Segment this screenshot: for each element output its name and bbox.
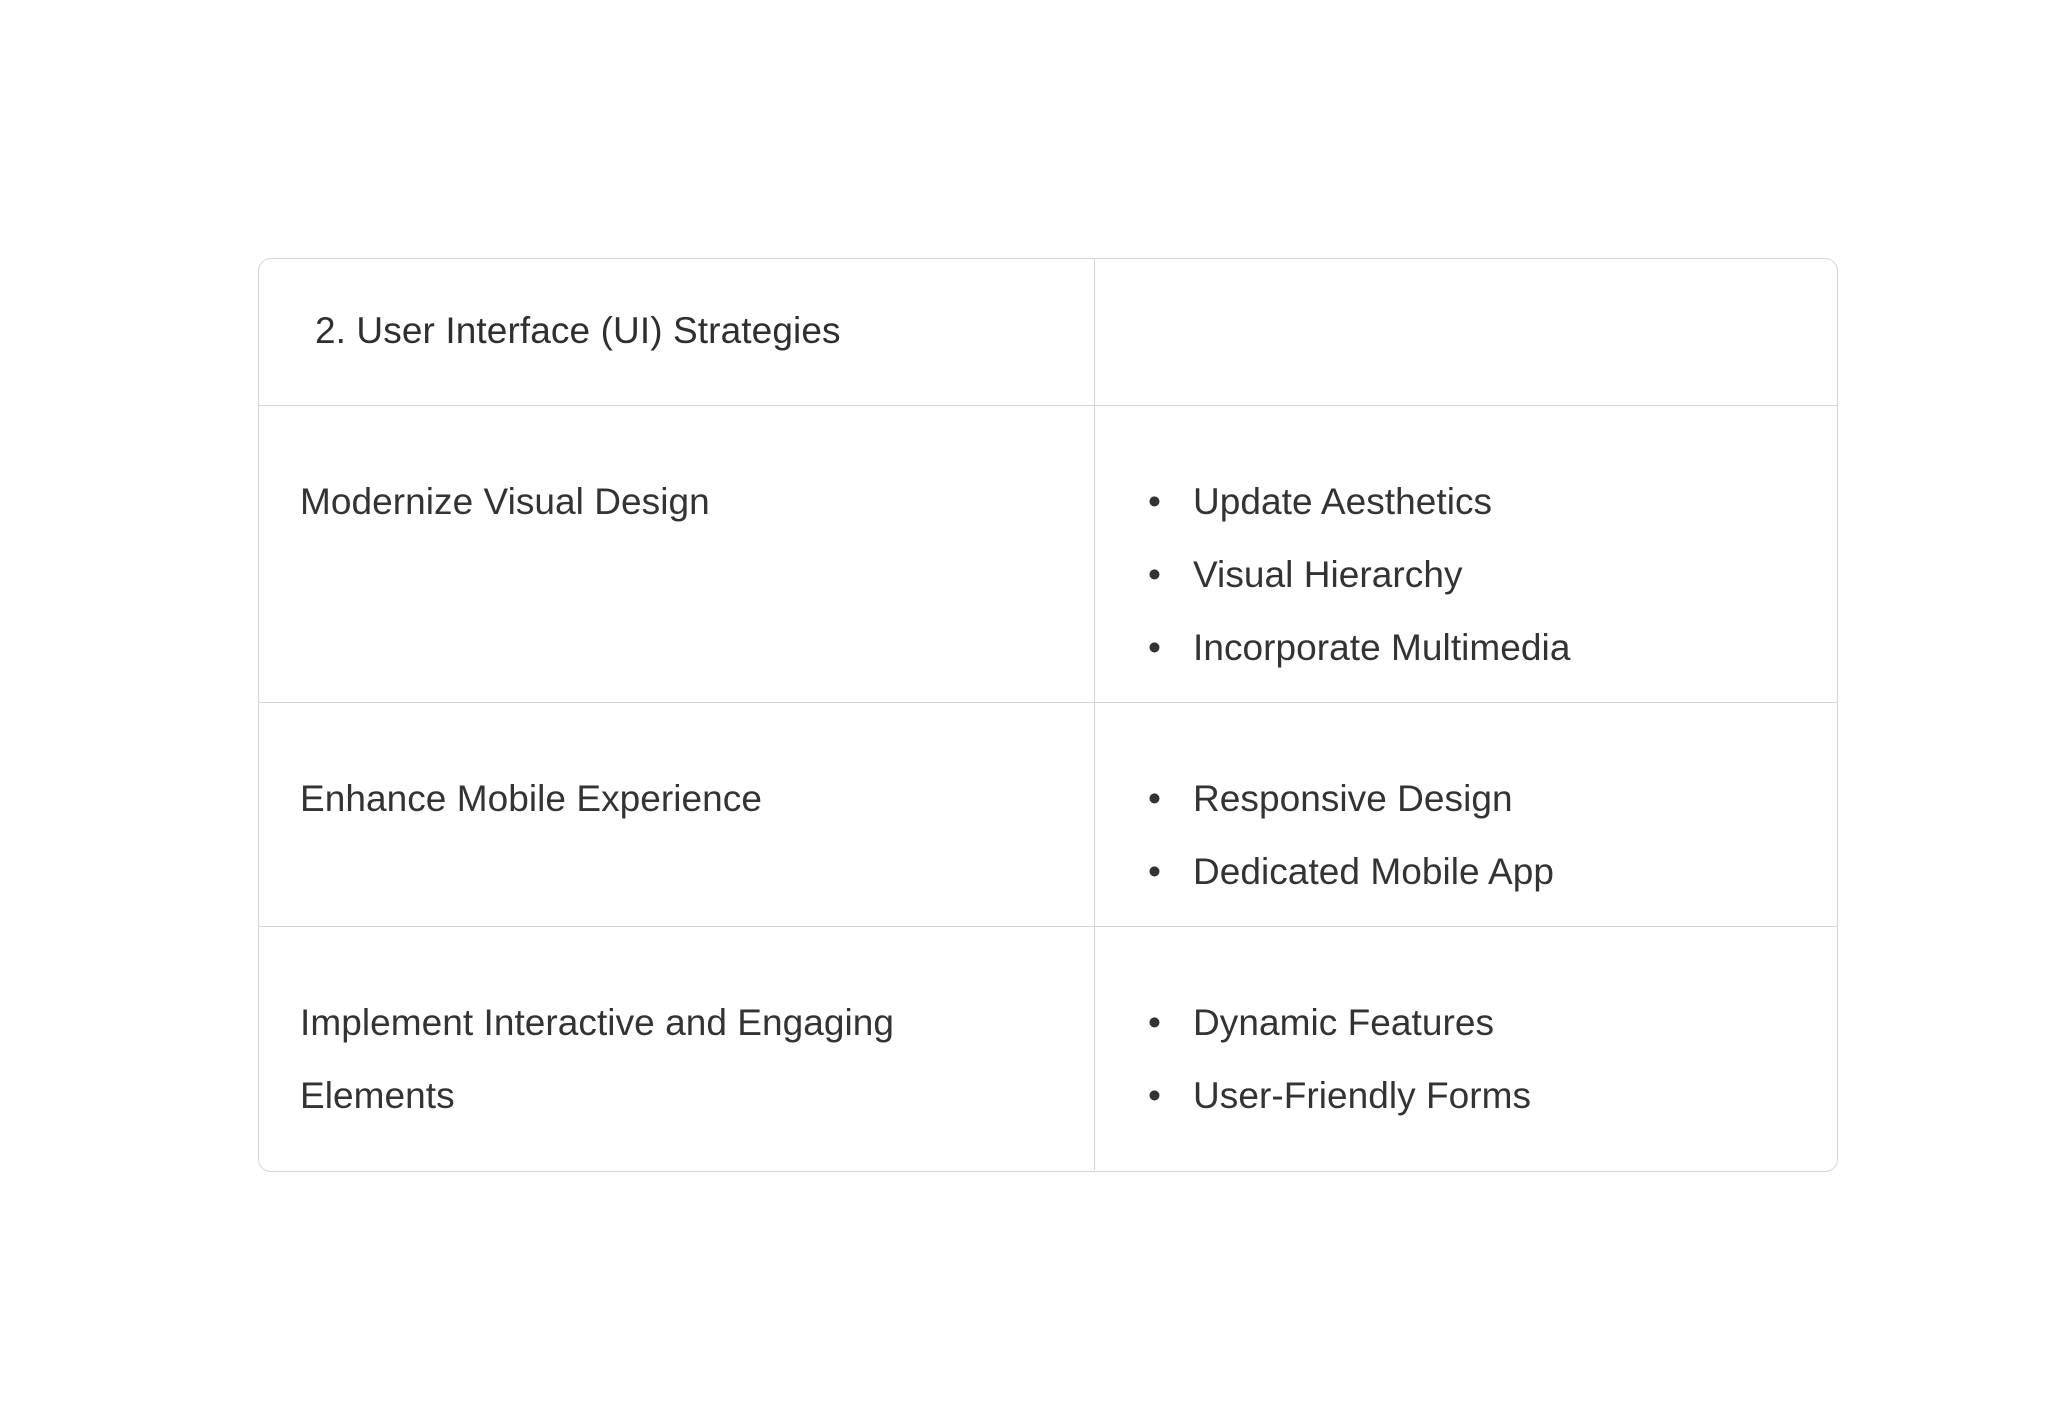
list-item: • Dynamic Features [1148, 986, 1807, 1059]
table-header-row: 2. User Interface (UI) Strategies [259, 259, 1837, 406]
bullet-icon: • [1148, 762, 1193, 835]
strategy-label: Enhance Mobile Experience [300, 762, 1054, 835]
strategy-label-cell: Implement Interactive and Engaging Eleme… [259, 927, 1095, 1170]
list-item: • Incorporate Multimedia [1148, 611, 1807, 684]
table-row: Modernize Visual Design • Update Aesthet… [259, 406, 1837, 703]
strategy-bullet-list: • Dynamic Features • User-Friendly Forms [1148, 986, 1807, 1132]
strategy-details-cell: • Responsive Design • Dedicated Mobile A… [1095, 703, 1837, 926]
list-item: • Visual Hierarchy [1148, 538, 1807, 611]
strategy-label-cell: Enhance Mobile Experience [259, 703, 1095, 926]
bullet-icon: • [1148, 1059, 1193, 1132]
strategy-details-cell: • Dynamic Features • User-Friendly Forms [1095, 927, 1837, 1170]
list-item: • User-Friendly Forms [1148, 1059, 1807, 1132]
table-title: 2. User Interface (UI) Strategies [315, 307, 1054, 355]
table-header-cell-empty [1095, 259, 1837, 405]
bullet-icon: • [1148, 538, 1193, 611]
list-item: • Dedicated Mobile App [1148, 835, 1807, 908]
strategy-bullet-list: • Responsive Design • Dedicated Mobile A… [1148, 762, 1807, 908]
strategy-details-cell: • Update Aesthetics • Visual Hierarchy •… [1095, 406, 1837, 702]
list-item-label: Dynamic Features [1193, 1002, 1494, 1043]
strategy-label-cell: Modernize Visual Design [259, 406, 1095, 702]
table-row: Enhance Mobile Experience • Responsive D… [259, 703, 1837, 927]
bullet-icon: • [1148, 986, 1193, 1059]
list-item-label: Dedicated Mobile App [1193, 851, 1554, 892]
list-item-label: Update Aesthetics [1193, 481, 1492, 522]
list-item-label: User-Friendly Forms [1193, 1075, 1531, 1116]
table-row: Implement Interactive and Engaging Eleme… [259, 927, 1837, 1170]
bullet-icon: • [1148, 611, 1193, 684]
list-item-label: Responsive Design [1193, 778, 1513, 819]
strategy-label: Modernize Visual Design [300, 465, 1054, 538]
list-item: • Responsive Design [1148, 762, 1807, 835]
bullet-icon: • [1148, 835, 1193, 908]
list-item-label: Visual Hierarchy [1193, 554, 1463, 595]
ui-strategies-table: 2. User Interface (UI) Strategies Modern… [258, 258, 1838, 1172]
strategy-bullet-list: • Update Aesthetics • Visual Hierarchy •… [1148, 465, 1807, 684]
bullet-icon: • [1148, 465, 1193, 538]
strategy-label: Implement Interactive and Engaging Eleme… [300, 986, 1054, 1132]
list-item: • Update Aesthetics [1148, 465, 1807, 538]
page-canvas: 2. User Interface (UI) Strategies Modern… [0, 0, 2068, 1408]
table-header-cell-title: 2. User Interface (UI) Strategies [259, 259, 1095, 405]
list-item-label: Incorporate Multimedia [1193, 627, 1570, 668]
